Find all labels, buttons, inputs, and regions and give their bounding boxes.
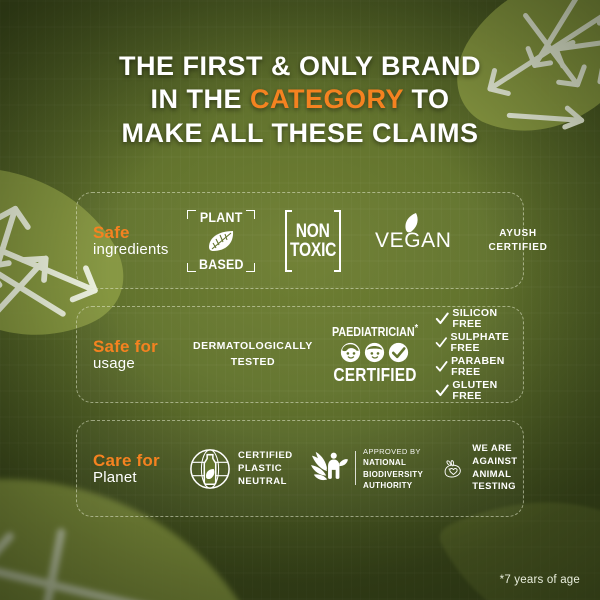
rabbit-heart-icon <box>443 454 465 484</box>
headline-line-1: THE FIRST & ONLY BRAND <box>0 50 600 83</box>
animal-testing-text: WE ARE AGAINST ANIMAL TESTING <box>472 443 529 494</box>
non-toxic-bottom-label: TOXIC <box>290 241 336 260</box>
checklist-item-label: GLUTEN FREE <box>452 380 527 401</box>
checklist-item: PARABEN FREE <box>435 356 528 377</box>
panel-label-safe-ingredients: Safe ingredients <box>77 223 181 259</box>
panel-label-safe-for-usage: Safe for usage <box>77 337 181 373</box>
paediatrician-label: PAEDIATRICIAN* <box>332 323 418 339</box>
poster-canvas: THE FIRST & ONLY BRAND IN THE CATEGORY T… <box>0 0 600 600</box>
leaf-icon <box>397 212 429 234</box>
panel-label-bottom: ingredients <box>93 242 181 259</box>
plastic-line-3: NEUTRAL <box>238 476 287 487</box>
plant-based-bottom-label: BASED <box>199 257 244 272</box>
claims-panel-safe-for-usage: Safe for usage DERMATOLOGICALLY TESTED P… <box>76 306 524 403</box>
paediatrician-word: PAEDIATRICIAN <box>332 326 415 340</box>
check-icon <box>435 335 448 350</box>
check-icon <box>435 311 450 326</box>
headline-line-2-pre: IN THE <box>150 84 250 114</box>
badge-dermatologically-tested: DERMATOLOGICALLY TESTED <box>193 339 313 369</box>
animal-line-2: ANIMAL TESTING <box>472 469 516 493</box>
paediatrician-face-icons <box>325 342 425 363</box>
badge-non-toxic: NON TOXIC <box>285 210 341 272</box>
bracket-corner-icon <box>187 210 196 219</box>
nba-line-1: APPROVED BY <box>363 447 421 456</box>
badge-plant-based: PLANT BASED <box>187 210 255 272</box>
ayush-line-2: CERTIFIED <box>488 242 547 253</box>
claims-panel-safe-ingredients: Safe ingredients PLANT <box>76 192 524 289</box>
badge-plastic-neutral: CERTIFIED PLASTIC NEUTRAL <box>189 448 293 490</box>
non-toxic-top-label: NON <box>296 222 330 241</box>
claims-panel-care-for-planet: Care for Planet CERTIFIED PLASTIC <box>76 420 524 517</box>
page-title: THE FIRST & ONLY BRAND IN THE CATEGORY T… <box>0 50 600 150</box>
asterisk-marker: * <box>414 323 417 334</box>
panel-badges-safe-for-usage: DERMATOLOGICALLY TESTED PAEDIATRICIAN* <box>181 307 528 402</box>
panel-label-bottom: Planet <box>93 470 181 487</box>
checklist-item: GLUTEN FREE <box>435 380 528 401</box>
free-from-checklist: SILICON FREE SULPHATE FREE PARABEN FREE … <box>435 305 528 404</box>
claims-panel-group: Safe ingredients PLANT <box>76 192 524 534</box>
nba-line-3: BIODIVERSITY <box>363 470 423 479</box>
checklist-item: SILICON FREE <box>435 308 528 329</box>
plastic-line-1: CERTIFIED <box>238 450 293 461</box>
dermat-line-2: TESTED <box>231 356 275 368</box>
panel-label-top: Safe for <box>93 337 181 356</box>
headline-highlight-category: CATEGORY <box>250 84 404 114</box>
child-face-icon <box>364 342 385 363</box>
check-icon <box>435 359 448 374</box>
paediatrician-certified-label: CERTIFIED <box>332 365 418 386</box>
divider <box>355 451 356 485</box>
check-circle-icon <box>388 342 409 363</box>
dermat-line-1: DERMATOLOGICALLY <box>193 340 313 352</box>
panel-label-bottom: usage <box>93 356 181 373</box>
checklist-item: SULPHATE FREE <box>435 332 528 353</box>
checklist-item-label: SULPHATE FREE <box>450 332 527 353</box>
panel-badges-care-for-planet: CERTIFIED PLASTIC NEUTRAL <box>181 421 529 516</box>
ayush-line-1: AYUSH <box>499 228 537 239</box>
plastic-line-2: PLASTIC <box>238 463 282 474</box>
globe-bottle-icon <box>189 448 231 490</box>
bracket-corner-icon <box>187 263 196 272</box>
badge-paediatrician-certified: PAEDIATRICIAN* <box>325 323 425 385</box>
headline-line-2: IN THE CATEGORY TO <box>0 83 600 116</box>
checklist-item-label: SILICON FREE <box>452 308 527 329</box>
bracket-corner-icon <box>246 210 255 219</box>
plastic-neutral-text: CERTIFIED PLASTIC NEUTRAL <box>238 449 293 489</box>
headline-line-3: MAKE ALL THESE CLAIMS <box>0 117 600 150</box>
child-face-icon <box>340 342 361 363</box>
nba-line-4: AUTHORITY <box>363 481 412 490</box>
animal-line-1: WE ARE AGAINST <box>472 443 517 467</box>
checklist-item-label: PARABEN FREE <box>451 356 528 377</box>
check-icon <box>435 383 450 398</box>
badge-against-animal-testing: WE ARE AGAINST ANIMAL TESTING <box>443 443 529 494</box>
badge-national-biodiversity-authority: APPROVED BY NATIONAL BIODIVERSITY AUTHOR… <box>310 446 423 492</box>
panel-badges-safe-ingredients: PLANT BASED <box>181 193 557 288</box>
bracket-corner-icon <box>246 263 255 272</box>
plant-based-top-label: PLANT <box>200 210 243 225</box>
badge-vegan: VEGAN <box>375 229 451 253</box>
biodiversity-logo-icon <box>310 450 348 486</box>
panel-label-top: Safe <box>93 223 181 242</box>
headline-line-2-post: TO <box>404 84 450 114</box>
nba-line-2: NATIONAL <box>363 458 406 467</box>
badge-ayush-certified: AYUSH CERTIFIED <box>479 227 557 254</box>
panel-label-top: Care for <box>93 451 181 470</box>
footnote: *7 years of age <box>500 574 580 586</box>
nba-text: APPROVED BY NATIONAL BIODIVERSITY AUTHOR… <box>363 446 423 492</box>
leaf-icon <box>206 229 236 253</box>
panel-label-care-for-planet: Care for Planet <box>77 451 181 487</box>
